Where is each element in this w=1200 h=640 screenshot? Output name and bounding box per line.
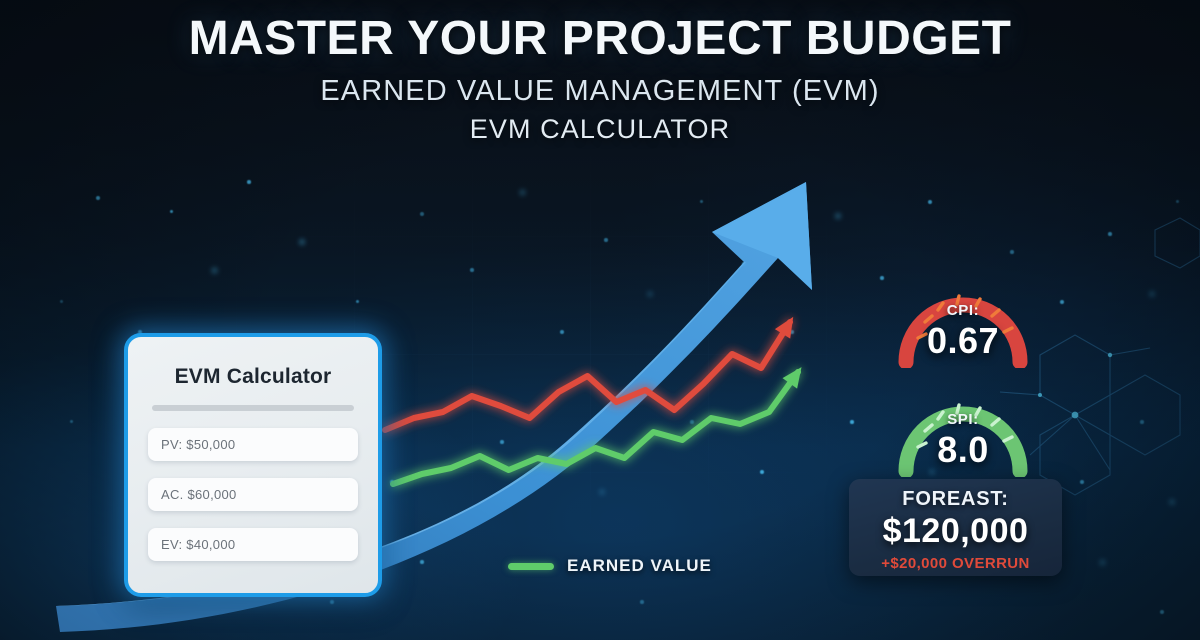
chart-legend: EARNED VALUE	[508, 556, 712, 576]
forecast-overrun: +$20,000 OVERRUN	[849, 555, 1062, 572]
calculator-divider	[152, 405, 354, 411]
spi-gauge: SPI: 8.0	[896, 381, 1030, 477]
evm-infographic: MASTER YOUR PROJECT BUDGET EARNED VALUE …	[0, 0, 1200, 640]
planned-value-input[interactable]: PV: $50,000	[148, 428, 358, 461]
legend-label-earned-value: EARNED VALUE	[567, 556, 712, 576]
cpi-gauge: CPI: 0.67	[896, 272, 1030, 368]
spi-gauge-label: SPI:	[896, 411, 1030, 428]
calculator-title: EVM Calculator	[148, 365, 358, 389]
page-subtitle: EARNED VALUE MANAGEMENT (EVM)	[0, 75, 1200, 108]
actual-cost-input[interactable]: AC. $60,000	[148, 478, 358, 511]
cpi-gauge-label: CPI:	[896, 302, 1030, 319]
earned-value-input[interactable]: EV: $40,000	[148, 528, 358, 561]
page-tagline: EVM CALCULATOR	[0, 114, 1200, 145]
evm-calculator-card[interactable]: EVM Calculator PV: $50,000 AC. $60,000 E…	[124, 333, 382, 597]
legend-swatch-earned-value	[508, 563, 554, 570]
page-title: MASTER YOUR PROJECT BUDGET	[0, 14, 1200, 65]
cpi-gauge-value: 0.67	[896, 320, 1030, 362]
spi-gauge-value: 8.0	[896, 429, 1030, 471]
forecast-amount: $120,000	[849, 512, 1062, 551]
forecast-label: FOREAST:	[849, 488, 1062, 511]
series-actual-cost	[385, 317, 793, 430]
header: MASTER YOUR PROJECT BUDGET EARNED VALUE …	[0, 14, 1200, 145]
forecast-panel: FOREAST: $120,000 +$20,000 OVERRUN	[849, 479, 1062, 576]
